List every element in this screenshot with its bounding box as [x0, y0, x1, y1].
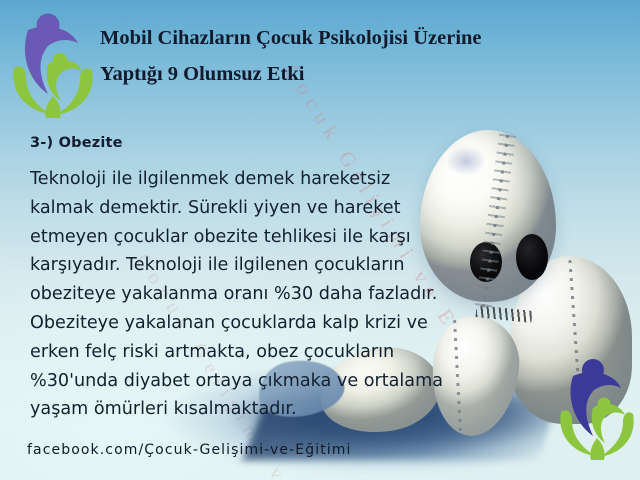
- body-line: Teknoloji ile ilgilenmek demek hareketsi…: [30, 165, 482, 194]
- body-line: erken felç riski artmakta, obez çocuklar…: [30, 338, 482, 367]
- body-line: kalmak demektir. Sürekli yiyen ve hareke…: [30, 194, 482, 223]
- logo-top-left: [8, 8, 98, 118]
- doll-right-eye: [516, 234, 548, 280]
- body-line: karşıyadır. Teknoloji ile ilgilenen çocu…: [30, 251, 482, 280]
- section-subtitle: 3-) Obezite: [30, 135, 123, 151]
- body-line: obeziteye yakalanma oranı %30 daha fazla…: [30, 280, 482, 309]
- body-paragraph: Teknoloji ile ilgilenmek demek hareketsi…: [30, 165, 482, 424]
- body-line: yaşam ömürleri kısalmaktadır.: [30, 395, 482, 424]
- body-line: %30'unda diyabet ortaya çıkmaka ve ortal…: [30, 367, 482, 396]
- body-line: Obeziteye yakalanan çocuklarda kalp kriz…: [30, 309, 482, 338]
- logo-bottom-right: [556, 352, 638, 460]
- title-line-1: Mobil Cihazların Çocuk Psikolojisi Üzeri…: [100, 27, 482, 49]
- page-title: Mobil Cihazların Çocuk Psikolojisi Üzeri…: [100, 20, 530, 92]
- title-line-2: Yaptığı 9 Olumsuz Etki: [100, 56, 530, 92]
- footer-facebook-link[interactable]: facebook.com/Çocuk-Gelişimi-ve-Eğitimi: [27, 442, 352, 458]
- poster-canvas: Çocuk Gelişimi ve Eğitimi Çocuk Gelişimi…: [0, 0, 640, 480]
- body-line: etmeyen çocuklar obezite tehlikesi ile k…: [30, 223, 482, 252]
